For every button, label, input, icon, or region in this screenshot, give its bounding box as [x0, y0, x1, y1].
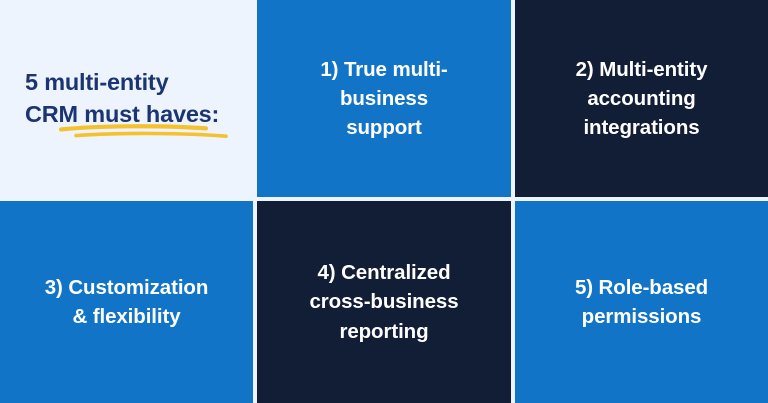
heading-wrap: 5 multi-entity CRM must haves:: [0, 0, 253, 197]
card-5-line-1: 5) Role-based: [575, 276, 708, 299]
card-1-line-1: 1) True multi-: [320, 58, 447, 81]
card-3-line-1: 3) Customization: [45, 276, 209, 299]
heading-line-1: 5 multi-entity: [25, 69, 168, 95]
card-1-line-3: support: [346, 116, 422, 139]
card-2-line-1: 2) Multi-entity: [576, 58, 708, 81]
card-3: 3) Customization & flexibility: [0, 201, 253, 403]
card-3-label: 3) Customization & flexibility: [27, 273, 227, 331]
card-4-line-1: 4) Centralized: [317, 261, 450, 284]
card-2-line-2: accounting: [587, 87, 695, 110]
card-4-label: 4) Centralized cross-business reporting: [292, 258, 477, 345]
card-5: 5) Role-based permissions: [515, 201, 768, 403]
card-2: 2) Multi-entity accounting integrations: [515, 0, 768, 197]
card-3-line-2: & flexibility: [72, 305, 180, 328]
card-2-line-3: integrations: [583, 116, 699, 139]
card-1-line-2: business: [340, 87, 428, 110]
card-1: 1) True multi- business support: [257, 0, 511, 197]
heading-cell: 5 multi-entity CRM must haves:: [0, 0, 253, 197]
card-5-line-2: permissions: [582, 305, 702, 328]
card-1-label: 1) True multi- business support: [302, 55, 465, 142]
card-4-line-3: reporting: [339, 320, 428, 343]
card-4-line-2: cross-business: [310, 290, 459, 313]
page-title: 5 multi-entity CRM must haves:: [25, 67, 225, 130]
card-5-label: 5) Role-based permissions: [557, 273, 726, 331]
card-2-label: 2) Multi-entity accounting integrations: [558, 55, 726, 142]
card-4: 4) Centralized cross-business reporting: [257, 201, 511, 403]
infographic-grid: 5 multi-entity CRM must haves: 1) True m…: [0, 0, 768, 403]
heading-line-2: CRM must haves:: [25, 101, 219, 127]
